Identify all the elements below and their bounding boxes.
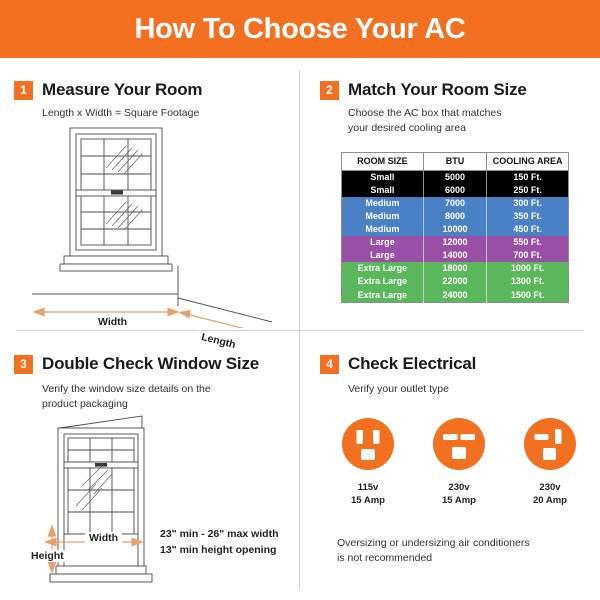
step-1-title: Measure Your Room xyxy=(42,80,202,100)
step-3-heading: 3 Double Check Window Size xyxy=(14,354,259,374)
page-header: How To Choose Your AC xyxy=(0,0,600,58)
outlet-230v-20a-caption: 230v 20 Amp xyxy=(512,482,588,508)
cell-btu: 22000 xyxy=(423,275,487,288)
outlet-115v-caption: 115v 15 Amp xyxy=(330,482,406,508)
cell-room-size: Medium xyxy=(342,223,424,236)
table-row: Small5000150 Ft. xyxy=(342,170,569,184)
cell-room-size: Extra Large xyxy=(342,289,424,303)
outlet-230v-15a-volts: 230v xyxy=(421,482,497,495)
cell-btu: 18000 xyxy=(423,262,487,275)
step-3-panel: 3 Double Check Window Size Verify the wi… xyxy=(0,328,300,600)
step-3-title: Double Check Window Size xyxy=(42,354,259,374)
table-header-row: ROOM SIZE BTU COOLING AREA xyxy=(342,153,569,171)
table-row: Large12000550 Ft. xyxy=(342,236,569,249)
room-width-label: Width xyxy=(93,316,132,328)
cell-btu: 6000 xyxy=(423,184,487,197)
sizing-note: Oversizing or undersizing air conditione… xyxy=(337,536,577,566)
table-row: Small6000250 Ft. xyxy=(342,184,569,197)
cell-cooling-area: 300 Ft. xyxy=(487,197,569,210)
outlet-230v-15a-caption: 230v 15 Amp xyxy=(421,482,497,508)
cell-cooling-area: 1500 Ft. xyxy=(487,289,569,303)
step-2-subtitle: Choose the AC box that matches your desi… xyxy=(348,106,502,136)
room-measure-diagram xyxy=(0,116,300,328)
window-width-spec: 23" min - 26" max width xyxy=(160,528,279,540)
outlet-option-230v-20a[interactable]: 230v 20 Amp xyxy=(512,418,588,508)
outlet-230v-15a-amps: 15 Amp xyxy=(421,495,497,508)
cell-cooling-area: 150 Ft. xyxy=(487,170,569,184)
cell-room-size: Extra Large xyxy=(342,275,424,288)
cell-room-size: Extra Large xyxy=(342,262,424,275)
cell-btu: 24000 xyxy=(423,289,487,303)
cell-cooling-area: 550 Ft. xyxy=(487,236,569,249)
table-row: Extra Large240001500 Ft. xyxy=(342,289,569,303)
ac-size-table-body: Small5000150 Ft.Small6000250 Ft.Medium70… xyxy=(342,170,569,302)
table-row: Medium7000300 Ft. xyxy=(342,197,569,210)
ac-size-table: ROOM SIZE BTU COOLING AREA Small5000150 … xyxy=(341,152,569,303)
step-4-heading: 4 Check Electrical xyxy=(320,354,476,374)
step-4-subtitle: Verify your outlet type xyxy=(348,382,449,397)
window-height-spec: 13" min height opening xyxy=(160,544,276,556)
table-row: Extra Large180001000 Ft. xyxy=(342,262,569,275)
cell-cooling-area: 350 Ft. xyxy=(487,210,569,223)
cell-btu: 8000 xyxy=(423,210,487,223)
outlet-230v-15a-icon xyxy=(433,418,485,470)
step-1-heading: 1 Measure Your Room xyxy=(14,80,202,100)
outlet-230v-20a-amps: 20 Amp xyxy=(512,495,588,508)
cell-room-size: Medium xyxy=(342,197,424,210)
cell-room-size: Large xyxy=(342,249,424,262)
step-4-badge: 4 xyxy=(320,355,339,374)
cell-room-size: Small xyxy=(342,184,424,197)
table-row: Large14000700 Ft. xyxy=(342,249,569,262)
outlet-option-230v-15a[interactable]: 230v 15 Amp xyxy=(421,418,497,508)
outlet-115v-amps: 15 Amp xyxy=(330,495,406,508)
cell-cooling-area: 450 Ft. xyxy=(487,223,569,236)
cell-btu: 5000 xyxy=(423,170,487,184)
outlet-115v-icon xyxy=(342,418,394,470)
step-3-badge: 3 xyxy=(14,355,33,374)
page-title: How To Choose Your AC xyxy=(135,13,466,46)
step-2-title: Match Your Room Size xyxy=(348,80,527,100)
step-4-title: Check Electrical xyxy=(348,354,476,374)
outlet-type-list: 115v 15 Amp 230v 15 Amp xyxy=(330,418,588,508)
outlet-115v-volts: 115v xyxy=(330,482,406,495)
cell-cooling-area: 250 Ft. xyxy=(487,184,569,197)
cell-room-size: Large xyxy=(342,236,424,249)
cell-btu: 7000 xyxy=(423,197,487,210)
table-row: Extra Large220001300 Ft. xyxy=(342,275,569,288)
outlet-230v-20a-icon xyxy=(524,418,576,470)
step-1-badge: 1 xyxy=(14,81,33,100)
step-3-subtitle: Verify the window size details on the pr… xyxy=(42,382,211,412)
window-width-label: Width xyxy=(85,532,122,544)
table-row: Medium8000350 Ft. xyxy=(342,210,569,223)
outlet-230v-20a-volts: 230v xyxy=(512,482,588,495)
cell-btu: 10000 xyxy=(423,223,487,236)
cell-cooling-area: 700 Ft. xyxy=(487,249,569,262)
cell-room-size: Medium xyxy=(342,210,424,223)
step-2-heading: 2 Match Your Room Size xyxy=(320,80,527,100)
column-btu: BTU xyxy=(423,153,487,171)
step-2-badge: 2 xyxy=(320,81,339,100)
cell-room-size: Small xyxy=(342,170,424,184)
infographic-page: How To Choose Your AC 1 Measure Your Roo… xyxy=(0,0,600,600)
cell-btu: 12000 xyxy=(423,236,487,249)
cell-cooling-area: 1000 Ft. xyxy=(487,262,569,275)
column-room-size: ROOM SIZE xyxy=(342,153,424,171)
cell-cooling-area: 1300 Ft. xyxy=(487,275,569,288)
table-row: Medium10000450 Ft. xyxy=(342,223,569,236)
step-1-panel: 1 Measure Your Room Length x Width = Squ… xyxy=(0,58,300,328)
outlet-option-115v[interactable]: 115v 15 Amp xyxy=(330,418,406,508)
cell-btu: 14000 xyxy=(423,249,487,262)
column-cooling-area: COOLING AREA xyxy=(487,153,569,171)
window-height-label: Height xyxy=(28,550,67,562)
window-size-diagram xyxy=(0,410,300,600)
